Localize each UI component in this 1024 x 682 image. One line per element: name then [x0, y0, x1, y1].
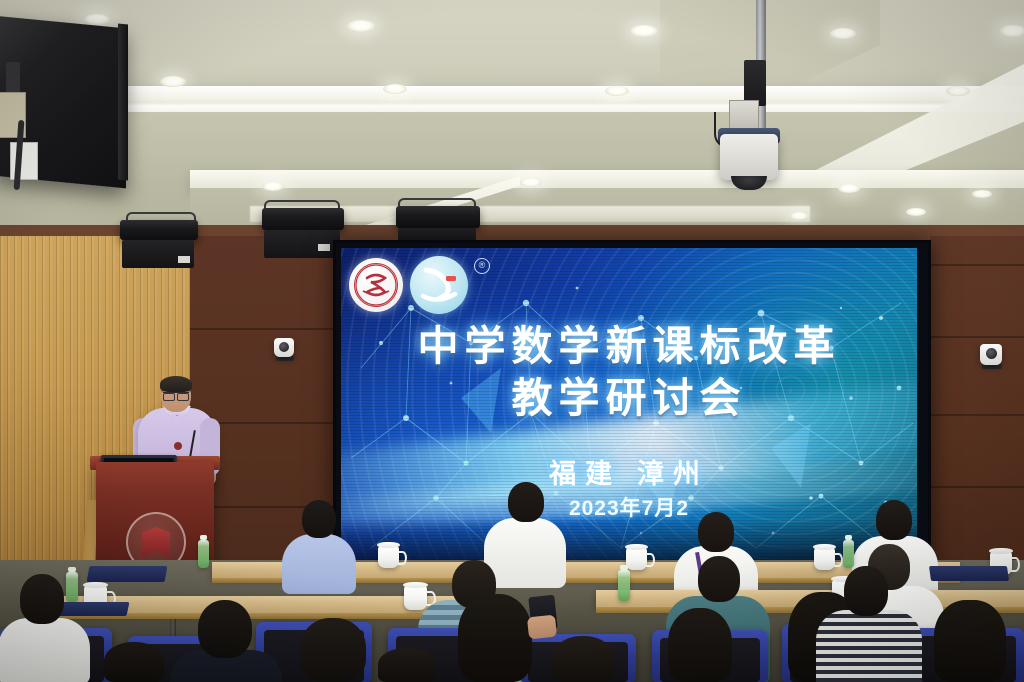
crest-book-shape — [142, 527, 170, 557]
wall-panel-seam — [930, 414, 1024, 416]
green-water-bottle — [843, 540, 854, 568]
bottle-cap — [68, 567, 76, 572]
person-head — [458, 594, 532, 682]
teacup-handle — [834, 553, 843, 567]
recessed-downlight — [383, 84, 407, 94]
person-torso — [816, 610, 922, 682]
dark-brown-wall-panel-right — [930, 236, 1024, 586]
wall-panel-seam — [930, 336, 1024, 338]
navy-conference-folder — [57, 602, 130, 616]
person-head — [876, 500, 912, 540]
lidded-white-teacup — [404, 586, 427, 610]
stage-flood-light — [262, 208, 344, 230]
blue-circular-org-logo-icon — [410, 256, 468, 314]
recessed-downlight — [946, 86, 970, 96]
lidded-white-teacup — [626, 548, 647, 570]
person-head — [698, 512, 734, 552]
bottle-cap — [845, 535, 852, 540]
recessed-downlight — [605, 86, 629, 96]
person-head — [104, 642, 164, 682]
navy-conference-folder — [929, 566, 1009, 581]
navy-conference-folder — [87, 566, 168, 582]
green-water-bottle — [66, 572, 78, 602]
registered-trademark-icon: ® — [474, 258, 490, 274]
recessed-downlight — [520, 178, 542, 187]
lidded-white-teacup — [814, 548, 835, 570]
person-head — [20, 574, 64, 624]
person-torso — [282, 534, 356, 594]
recessed-downlight — [347, 20, 375, 32]
wall-mounted-ptz-camera — [274, 338, 294, 357]
red-circular-school-emblem-icon — [349, 258, 403, 312]
person-head — [300, 618, 366, 682]
person-head — [552, 636, 614, 682]
green-water-bottle — [198, 540, 209, 568]
screen-date-text: 2023年7月2 — [341, 492, 917, 522]
stage-flood-light — [396, 206, 480, 228]
person-head — [668, 608, 732, 682]
teacup-handle — [1011, 557, 1020, 572]
person-torso — [484, 518, 566, 588]
microphone-head — [174, 442, 182, 450]
recessed-downlight — [790, 212, 808, 220]
recessed-downlight — [1000, 25, 1024, 37]
wall-panel-seam — [930, 264, 1024, 266]
screen-location-text: 福建 漳州 — [341, 452, 917, 491]
stage-light-label — [318, 244, 330, 251]
recessed-downlight — [84, 14, 110, 25]
audience-hand — [527, 615, 557, 640]
teacup-handle — [398, 551, 407, 565]
recessed-downlight — [160, 76, 186, 87]
person-head — [934, 600, 1006, 682]
recessed-downlight — [906, 208, 926, 216]
camera-lens — [986, 348, 997, 359]
person-head — [698, 556, 740, 602]
person-torso — [0, 618, 90, 682]
person-head — [302, 500, 336, 538]
screen-title-line-1: 中学数学新课标改革 — [418, 323, 841, 369]
lidded-white-teacup — [378, 546, 399, 568]
bottle-cap — [620, 565, 628, 570]
person-head — [844, 566, 888, 616]
recessed-downlight — [830, 28, 856, 39]
teacup-handle — [646, 553, 655, 567]
ceiling-mounted-projector — [720, 134, 778, 180]
recessed-downlight — [262, 182, 284, 191]
wall-panel-seam — [930, 486, 1024, 488]
tv-side-edge — [118, 24, 128, 181]
screen-title-line-2: 教学研讨会 — [341, 372, 917, 424]
person-head — [378, 648, 436, 682]
camera-lens — [279, 342, 289, 352]
stage-light-housing — [122, 240, 194, 268]
recessed-downlight — [630, 25, 658, 37]
speaker-hair — [160, 376, 192, 392]
recessed-downlight — [838, 184, 860, 193]
stage-flood-light — [120, 220, 198, 240]
person-head — [198, 600, 252, 658]
bottle-cap — [200, 535, 207, 540]
wall-panel-seam — [190, 328, 340, 330]
green-water-bottle — [618, 570, 630, 601]
stage-light-label — [178, 256, 190, 263]
person-head — [508, 482, 544, 522]
speaker-glasses — [163, 392, 189, 399]
recessed-downlight — [972, 190, 992, 198]
screen-title: 中学数学新课标改革 教学研讨会 — [341, 320, 917, 425]
conference-hall-photo: ® 中学数学新课标改革 教学研讨会 福建 漳州 2023年7月2 林 新 建 — [0, 0, 1024, 682]
wall-mounted-ptz-camera — [980, 344, 1002, 365]
